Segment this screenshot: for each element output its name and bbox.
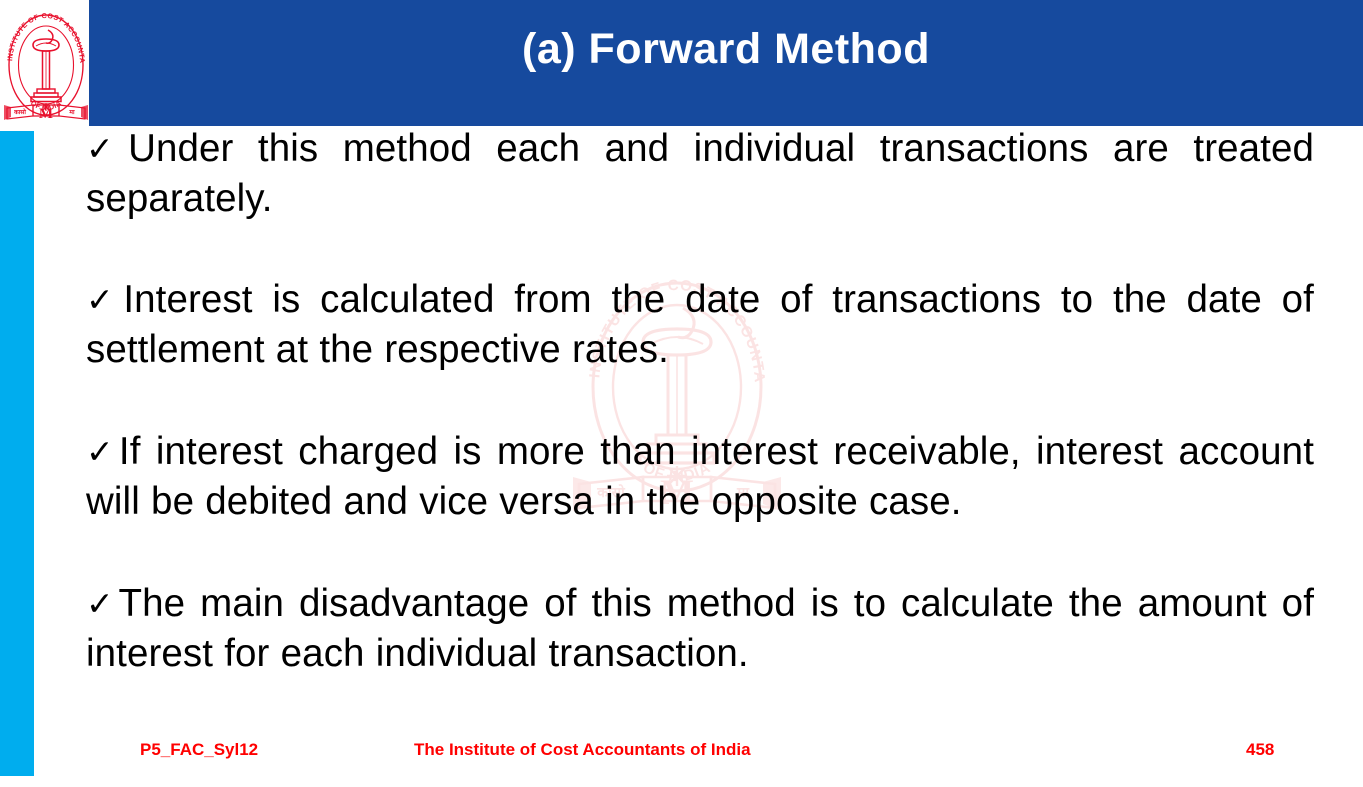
slide-footer: P5_FAC_Syl12 The Institute of Cost Accou…	[0, 736, 1363, 770]
bullet-item: ✓If interest charged is more than intere…	[86, 427, 1314, 527]
slide-canvas: THE INSTITUTE OF COST ACCOUNTANTS OF IND…	[0, 0, 1363, 787]
bullet-text: Interest is calculated from the date of …	[86, 278, 1314, 371]
svg-text:मा: मा	[68, 110, 75, 116]
institute-logo: THE INSTITUTE OF COST ACCOUNTANTS OF IND…	[3, 2, 89, 126]
svg-text:M: M	[39, 106, 53, 122]
bullet-item: ✓Interest is calculated from the date of…	[86, 275, 1314, 375]
checkmark-bullet-icon: ✓	[86, 585, 118, 622]
bullet-item: ✓The main disadvantage of this method is…	[86, 579, 1314, 679]
bullet-text: The main disadvantage of this method is …	[86, 582, 1314, 675]
slide-title: (a) Forward Method	[522, 28, 930, 71]
bullet-text: Under this method each and individual tr…	[86, 127, 1314, 220]
svg-text:कासो: कासो	[13, 108, 26, 116]
left-accent-bar	[0, 131, 34, 776]
footer-page-number: 458	[1246, 740, 1274, 760]
svg-text:THE INSTITUTE OF COST ACCOUNTA: THE INSTITUTE OF COST ACCOUNTANTS	[3, 2, 86, 64]
header-banner: (a) Forward Method	[89, 0, 1363, 126]
checkmark-bullet-icon: ✓	[86, 433, 118, 470]
checkmark-bullet-icon: ✓	[86, 281, 122, 318]
footer-subject-code: P5_FAC_Syl12	[140, 740, 258, 760]
checkmark-bullet-icon: ✓	[86, 130, 127, 167]
slide-body: ✓Under this method each and individual t…	[86, 124, 1314, 728]
bullet-text: If interest charged is more than interes…	[86, 430, 1314, 523]
footer-institute-name: The Institute of Cost Accountants of Ind…	[414, 740, 751, 760]
bullet-item: ✓Under this method each and individual t…	[86, 124, 1314, 224]
